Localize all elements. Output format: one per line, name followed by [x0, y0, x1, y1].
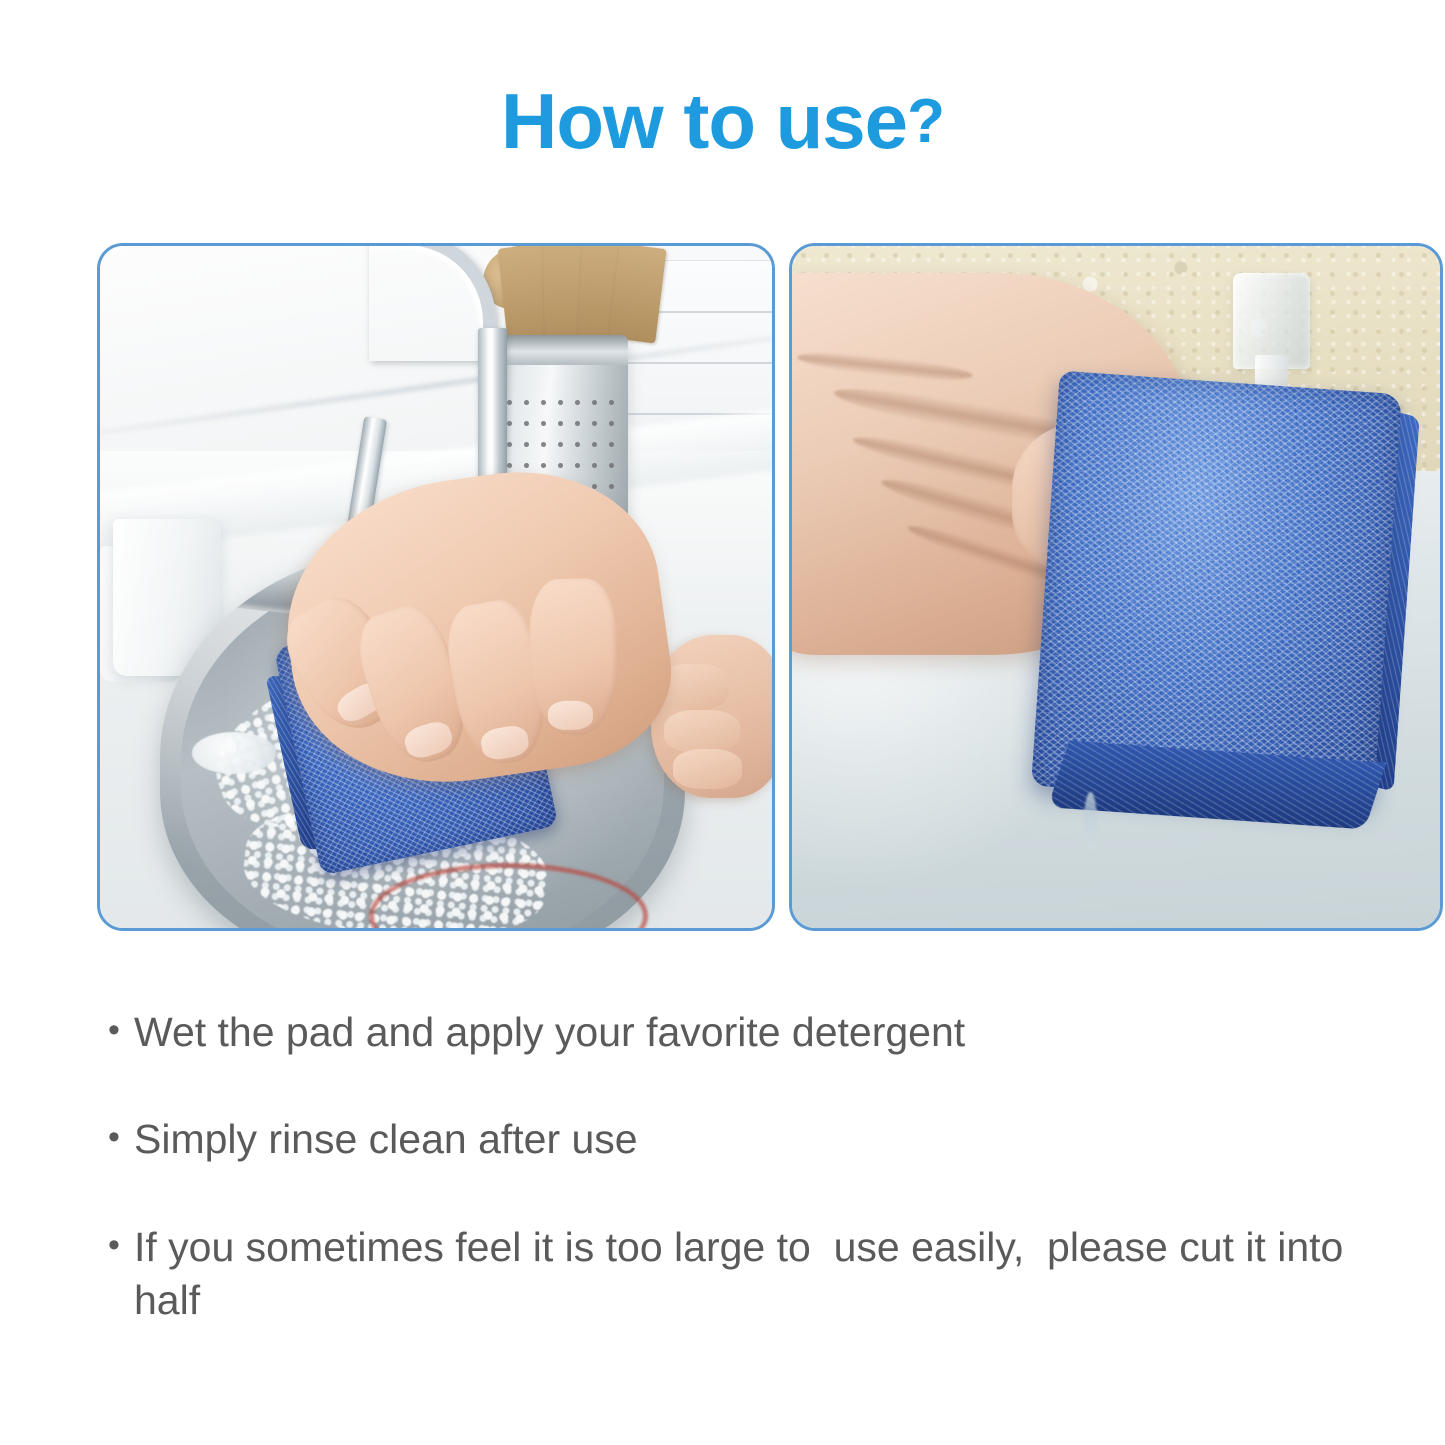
bullet-marker-icon: • [108, 1113, 134, 1162]
instruction-text-2: Simply rinse clean after use [134, 1113, 1398, 1166]
water-drip [1084, 792, 1097, 853]
instruction-list: • Wet the pad and apply your favorite de… [108, 1006, 1398, 1327]
scene-holding-pad [792, 246, 1440, 928]
bullet-marker-icon: • [108, 1006, 134, 1055]
instruction-item-2: • Simply rinse clean after use [108, 1113, 1398, 1166]
fingernail [480, 724, 531, 762]
soap-bubble [192, 732, 276, 774]
instruction-text-1: Wet the pad and apply your favorite dete… [134, 1006, 1398, 1059]
bullet-marker-icon: • [108, 1221, 134, 1270]
photo-panel-right [789, 243, 1443, 931]
utensil-holder-rim [490, 335, 628, 366]
photo-panels [0, 243, 1445, 925]
scene-washing-pot [100, 246, 772, 928]
instruction-text-3: If you sometimes feel it is too large to… [134, 1221, 1398, 1328]
instruction-item-3: • If you sometimes feel it is too large … [108, 1221, 1398, 1328]
instruction-item-1: • Wet the pad and apply your favorite de… [108, 1006, 1398, 1059]
finger [529, 578, 618, 736]
fingernail [548, 700, 594, 730]
page-title-text: How to use [501, 77, 907, 165]
photo-panel-left [97, 243, 775, 931]
page-title: How to use? [501, 82, 944, 160]
page-title-question-mark: ? [907, 87, 944, 156]
page-title-container: How to use? [0, 82, 1445, 160]
fingernail [402, 717, 456, 761]
